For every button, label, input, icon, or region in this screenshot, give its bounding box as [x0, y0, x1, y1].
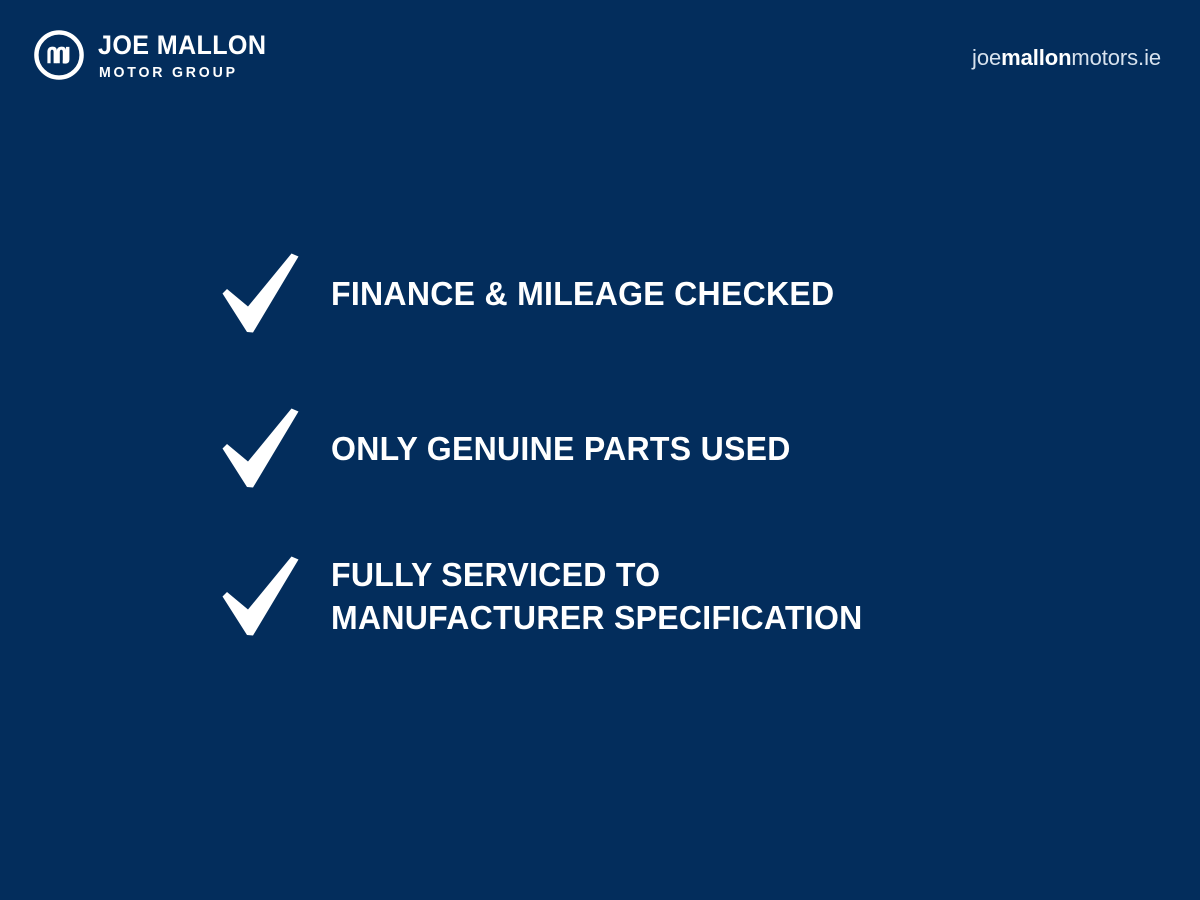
benefit-line: FINANCE & MILEAGE CHECKED — [331, 273, 834, 316]
brand-wordmark: JOE MALLON MOTOR GROUP — [98, 31, 279, 80]
checkmark-icon — [214, 405, 306, 493]
joe-mallon-circle-monogram-icon — [33, 29, 85, 81]
benefit-line: MANUFACTURER SPECIFICATION — [331, 597, 863, 640]
benefit-line: FULLY SERVICED TO — [331, 554, 863, 597]
header: JOE MALLON MOTOR GROUP joemallonmotors.i… — [0, 0, 1200, 110]
benefit-item-finance-mileage-checked: FINANCE & MILEAGE CHECKED — [214, 250, 850, 338]
benefit-item-only-genuine-parts-used: ONLY GENUINE PARTS USED — [214, 405, 805, 493]
website-url-suffix: motors.ie — [1071, 45, 1161, 70]
brand-logo[interactable]: JOE MALLON MOTOR GROUP — [33, 29, 279, 81]
checkmark-icon — [214, 250, 306, 338]
website-url[interactable]: joemallonmotors.ie — [972, 47, 1161, 69]
brand-name: JOE MALLON — [98, 32, 266, 59]
brand-tagline: MOTOR GROUP — [98, 65, 268, 80]
benefit-label: FINANCE & MILEAGE CHECKED — [331, 273, 834, 316]
website-url-emphasis: mallon — [1001, 45, 1071, 70]
checkmark-icon — [214, 553, 306, 641]
promo-slide: JOE MALLON MOTOR GROUP joemallonmotors.i… — [0, 0, 1200, 900]
benefit-label: FULLY SERVICED TO MANUFACTURER SPECIFICA… — [331, 554, 863, 640]
benefit-label: ONLY GENUINE PARTS USED — [331, 428, 791, 471]
benefit-item-fully-serviced-to-manufacturer-specification: FULLY SERVICED TO MANUFACTURER SPECIFICA… — [214, 553, 879, 641]
benefit-line: ONLY GENUINE PARTS USED — [331, 428, 791, 471]
website-url-prefix: joe — [972, 45, 1001, 70]
